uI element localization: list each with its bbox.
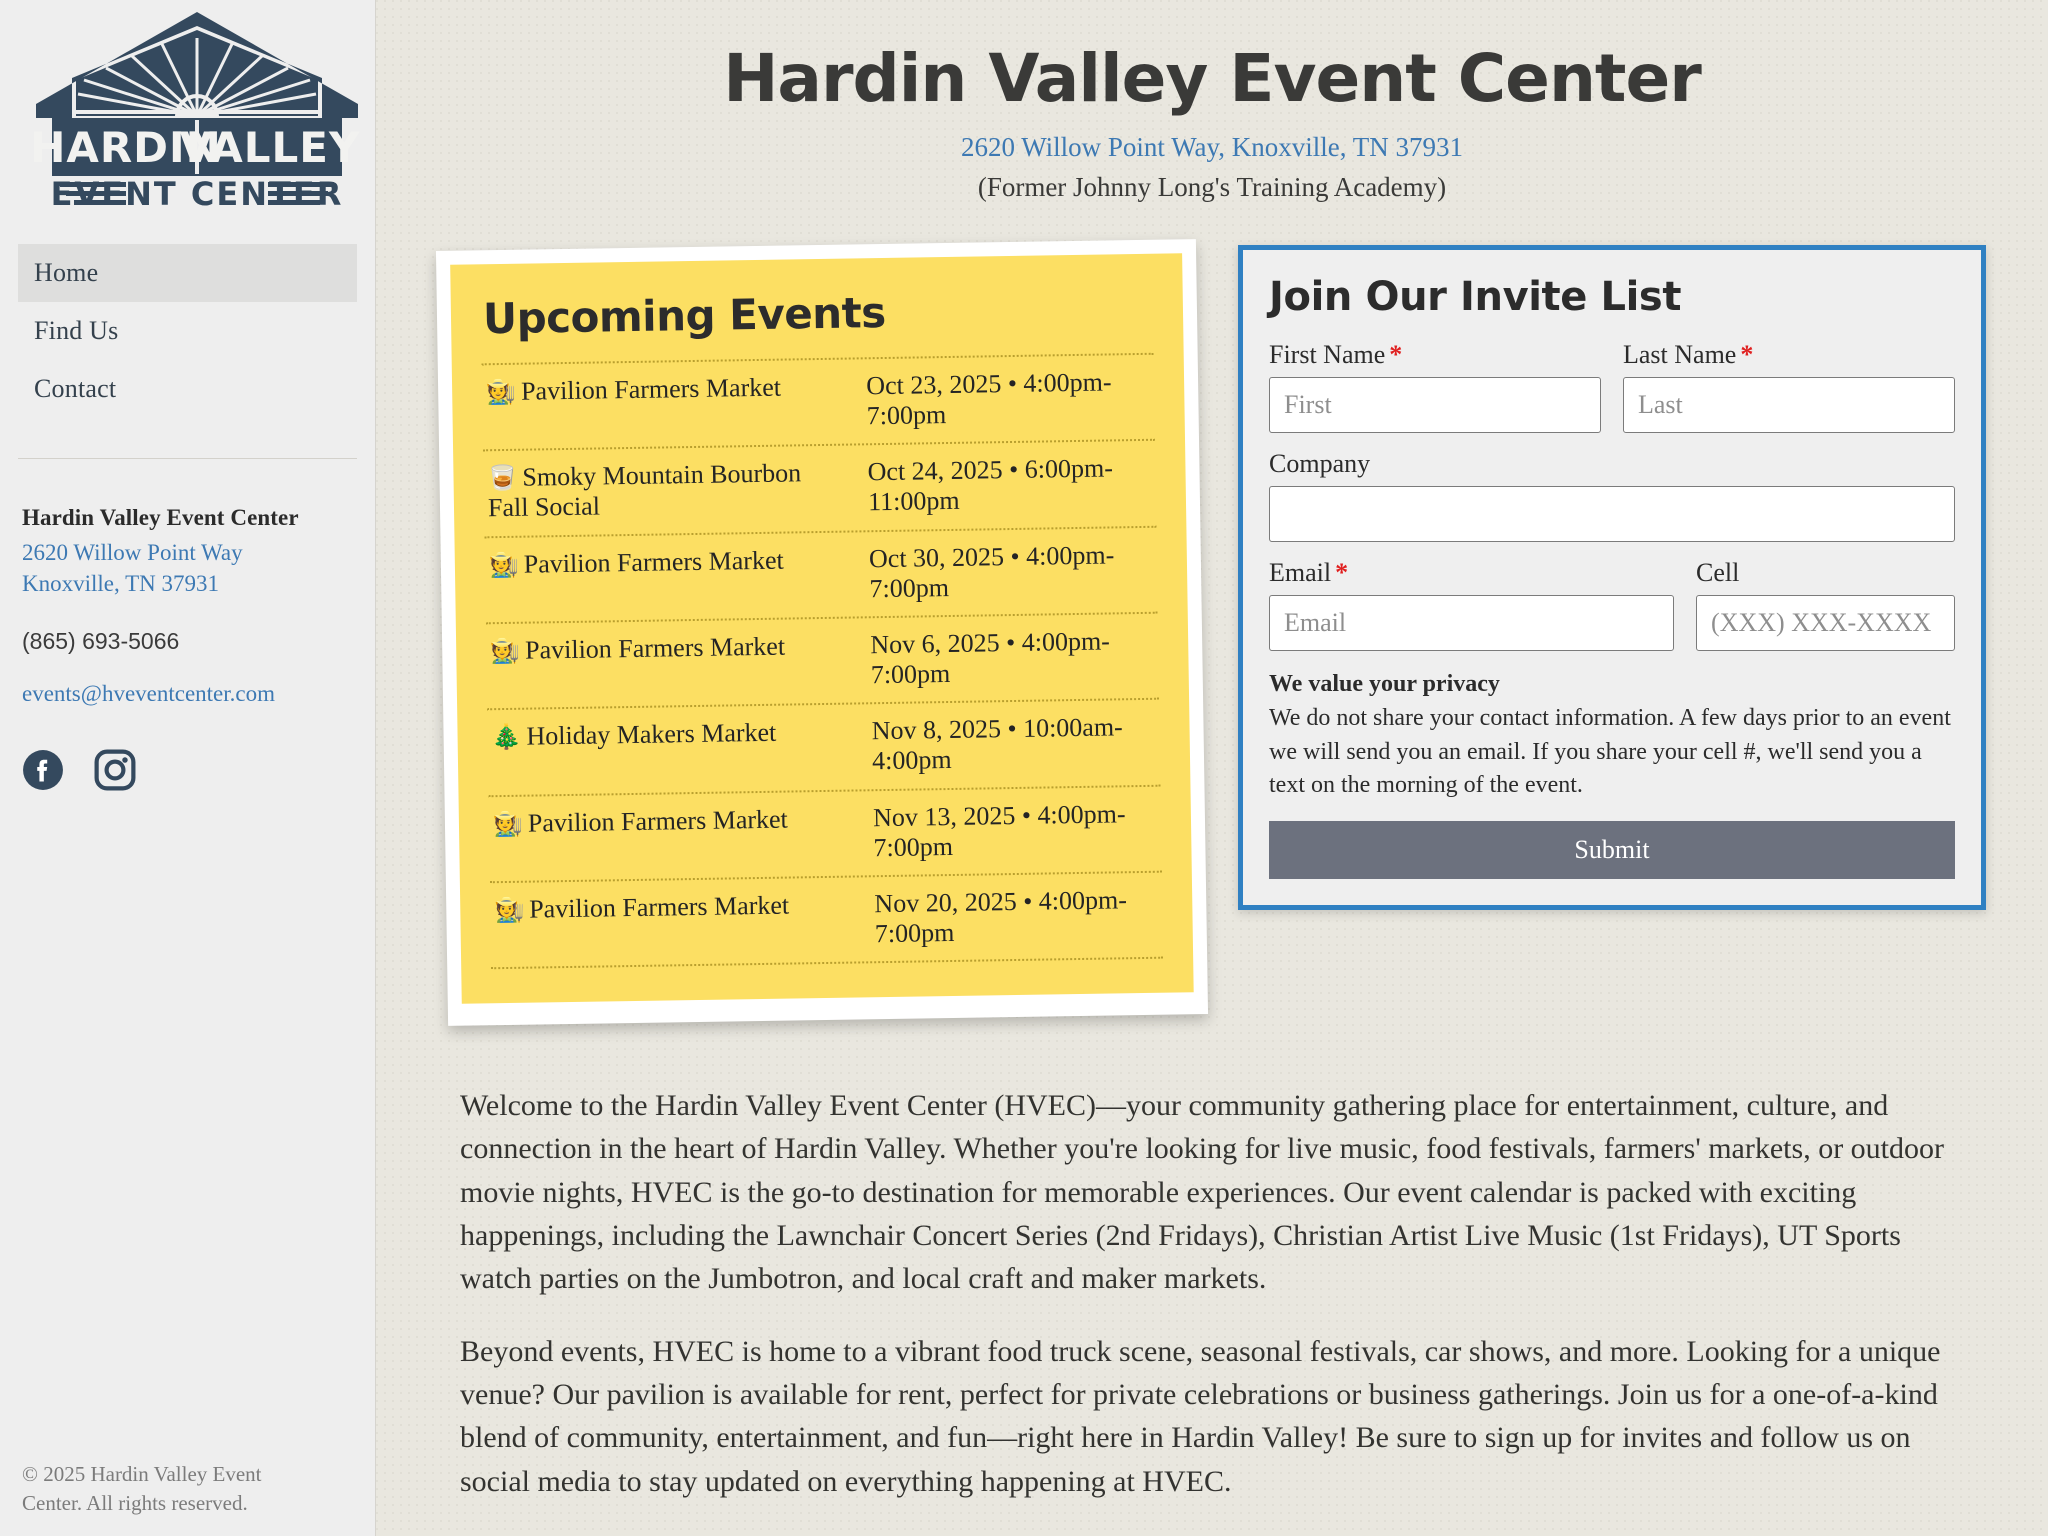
event-list-item[interactable]: 🧑‍🌾Pavilion Farmers Market Nov 6, 2025 •… xyxy=(486,612,1159,709)
christmas-tree-icon: 🎄 xyxy=(491,723,521,751)
welcome-paragraph-1: Welcome to the Hardin Valley Event Cente… xyxy=(460,1084,1974,1300)
sidebar-item-contact[interactable]: Contact xyxy=(18,360,357,418)
event-list-item[interactable]: 🎄Holiday Makers Market Nov 8, 2025 • 10:… xyxy=(487,698,1160,795)
email-label: Email* xyxy=(1269,558,1674,588)
welcome-paragraph-2: Beyond events, HVEC is home to a vibrant… xyxy=(460,1330,1974,1503)
farmer-icon: 🧑‍🌾 xyxy=(490,637,520,665)
invite-list-form: Join Our Invite List First Name* Last Na… xyxy=(1238,245,1986,910)
sidebar-item-home[interactable]: Home xyxy=(18,244,357,302)
event-datetime: Nov 20, 2025 • 4:00pm-7:00pm xyxy=(866,885,1159,950)
farmer-icon: 🧑‍🌾 xyxy=(489,550,519,578)
instagram-icon[interactable] xyxy=(94,749,136,791)
social-links xyxy=(22,749,353,791)
privacy-heading: We value your privacy xyxy=(1269,671,1955,698)
sidebar-divider xyxy=(18,458,357,459)
email-input[interactable] xyxy=(1269,595,1674,651)
upcoming-events-card: Upcoming Events 🧑‍🌾Pavilion Farmers Mark… xyxy=(436,239,1208,1026)
event-datetime: Nov 13, 2025 • 4:00pm-7:00pm xyxy=(865,798,1158,863)
required-marker: * xyxy=(1335,558,1348,587)
company-input[interactable] xyxy=(1269,486,1955,542)
event-list-item[interactable]: 🧑‍🌾Pavilion Farmers Market Oct 30, 2025 … xyxy=(484,525,1157,622)
last-name-label: Last Name* xyxy=(1623,340,1955,370)
farmer-icon: 🧑‍🌾 xyxy=(486,378,516,406)
sidebar: HARDIN VALLEY EVENT CENTER Home Find Us … xyxy=(0,0,376,1536)
sidebar-contact-block: Hardin Valley Event Center 2620 Willow P… xyxy=(18,505,357,791)
submit-button[interactable]: Submit xyxy=(1269,821,1955,879)
sidebar-item-find-us[interactable]: Find Us xyxy=(18,302,357,360)
farmer-icon: 🧑‍🌾 xyxy=(493,809,523,837)
svg-text:EVENT CENTER: EVENT CENTER xyxy=(51,175,344,213)
event-name: 🧑‍🌾Pavilion Farmers Market xyxy=(493,803,852,839)
event-list-item[interactable]: 🧑‍🌾Pavilion Farmers Market Nov 20, 2025 … xyxy=(490,871,1163,970)
header-former-name: (Former Johnny Long's Training Academy) xyxy=(432,172,1992,203)
invite-form-title: Join Our Invite List xyxy=(1269,274,1955,320)
welcome-copy: Welcome to the Hardin Valley Event Cente… xyxy=(432,1084,1992,1503)
page-layout: HARDIN VALLEY EVENT CENTER Home Find Us … xyxy=(0,0,2048,1536)
event-datetime: Oct 24, 2025 • 6:00pm-11:00pm xyxy=(859,453,1152,518)
company-label: Company xyxy=(1269,449,1955,479)
cell-field-group: Cell xyxy=(1696,558,1955,651)
event-name: 🎄Holiday Makers Market xyxy=(491,717,850,753)
required-marker: * xyxy=(1740,340,1753,369)
main-content: Hardin Valley Event Center 2620 Willow P… xyxy=(376,0,2048,1536)
event-list-item[interactable]: 🥃Smoky Mountain Bourbon Fall Social Oct … xyxy=(483,439,1156,536)
contact-email[interactable]: events@hveventcenter.com xyxy=(22,681,353,707)
event-datetime: Oct 23, 2025 • 4:00pm-7:00pm xyxy=(858,367,1151,432)
required-marker: * xyxy=(1389,340,1402,369)
company-field-group: Company xyxy=(1269,449,1955,542)
event-name: 🧑‍🌾Pavilion Farmers Market xyxy=(486,372,845,408)
contact-address-line1[interactable]: 2620 Willow Point Way xyxy=(22,537,353,568)
contact-phone[interactable]: (865) 693-5066 xyxy=(22,628,353,655)
cell-input[interactable] xyxy=(1696,595,1955,651)
event-list-item[interactable]: 🧑‍🌾Pavilion Farmers Market Nov 13, 2025 … xyxy=(489,784,1162,881)
event-name: 🥃Smoky Mountain Bourbon Fall Social xyxy=(487,458,846,524)
first-name-label: First Name* xyxy=(1269,340,1601,370)
event-datetime: Nov 6, 2025 • 4:00pm-7:00pm xyxy=(862,626,1155,691)
last-name-input[interactable] xyxy=(1623,377,1955,433)
upcoming-events-title: Upcoming Events xyxy=(483,284,1154,344)
event-datetime: Oct 30, 2025 • 4:00pm-7:00pm xyxy=(861,539,1154,604)
farmer-icon: 🧑‍🌾 xyxy=(494,896,524,924)
email-field-group: Email* xyxy=(1269,558,1674,651)
first-name-field-group: First Name* xyxy=(1269,340,1601,433)
tumbler-glass-icon: 🥃 xyxy=(487,464,517,492)
event-name: 🧑‍🌾Pavilion Farmers Market xyxy=(490,630,849,666)
sidebar-nav: Home Find Us Contact xyxy=(18,244,357,418)
event-datetime: Nov 8, 2025 • 10:00am-4:00pm xyxy=(863,712,1156,777)
contact-address-line2[interactable]: Knoxville, TN 37931 xyxy=(22,568,353,599)
facebook-icon[interactable] xyxy=(22,749,64,791)
footer-copyright: © 2025 Hardin Valley Event Center. All r… xyxy=(22,1460,322,1518)
first-name-input[interactable] xyxy=(1269,377,1601,433)
hardin-valley-event-center-logo-icon: HARDIN VALLEY EVENT CENTER xyxy=(32,8,362,226)
event-name: 🧑‍🌾Pavilion Farmers Market xyxy=(494,889,853,925)
event-name: 🧑‍🌾Pavilion Farmers Market xyxy=(489,544,848,580)
site-logo[interactable]: HARDIN VALLEY EVENT CENTER xyxy=(18,0,357,240)
contact-business-name: Hardin Valley Event Center xyxy=(22,505,353,531)
privacy-text: We do not share your contact information… xyxy=(1269,702,1955,803)
cards-row: Upcoming Events 🧑‍🌾Pavilion Farmers Mark… xyxy=(432,245,1992,1020)
event-list-item[interactable]: 🧑‍🌾Pavilion Farmers Market Oct 23, 2025 … xyxy=(482,353,1155,450)
page-title: Hardin Valley Event Center xyxy=(432,44,1992,114)
last-name-field-group: Last Name* xyxy=(1623,340,1955,433)
svg-text:VALLEY: VALLEY xyxy=(180,123,361,172)
cell-label: Cell xyxy=(1696,558,1955,588)
header-address-link[interactable]: 2620 Willow Point Way, Knoxville, TN 379… xyxy=(432,132,1992,163)
